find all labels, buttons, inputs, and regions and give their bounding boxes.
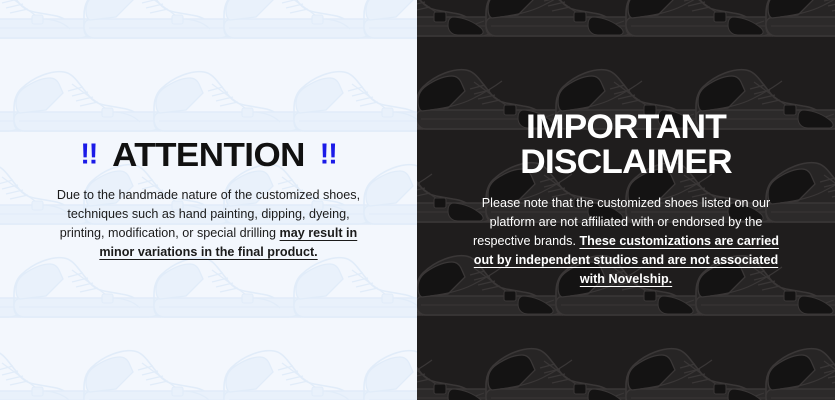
disclaimer-content: IMPORTANT DISCLAIMER Please note that th… [417,110,835,289]
attention-heading-text: ATTENTION [112,138,305,171]
attention-panel: !! ATTENTION !! Due to the handmade natu… [0,0,417,400]
disclaimer-banner: !! ATTENTION !! Due to the handmade natu… [0,0,835,400]
attention-body: Due to the handmade nature of the custom… [26,186,391,263]
attention-heading: !! ATTENTION !! [15,138,402,171]
disclaimer-body: Please note that the customized shoes li… [443,194,809,290]
disclaimer-heading-line2: DISCLAIMER [436,145,817,180]
disclaimer-panel: IMPORTANT DISCLAIMER Please note that th… [417,0,835,400]
disclaimer-heading-line1: IMPORTANT [436,110,817,145]
exclamation-right-icon: !! [320,140,337,168]
exclamation-left-icon: !! [80,140,97,168]
disclaimer-heading: IMPORTANT DISCLAIMER [436,110,817,179]
attention-content: !! ATTENTION !! Due to the handmade natu… [0,138,417,263]
